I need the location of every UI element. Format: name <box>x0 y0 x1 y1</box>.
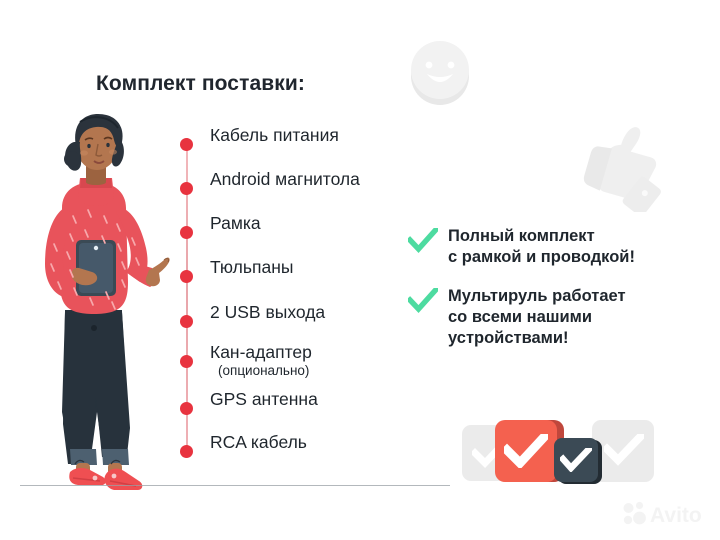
list-item-label: RCA кабель <box>210 432 307 453</box>
feature-highlights: Полный комплект с рамкой и проводкой! Му… <box>408 226 708 363</box>
bullet-dot-icon <box>180 182 193 195</box>
list-item-label: Кан-адаптер <box>210 342 312 363</box>
page-title: Комплект поставки: <box>96 72 305 96</box>
feature-line: Полный комплект <box>448 226 708 247</box>
bullet-dot-icon <box>180 138 193 151</box>
avito-wordmark: Avito <box>650 504 702 527</box>
bullet-dot-icon <box>180 402 193 415</box>
green-check-icon <box>408 228 438 254</box>
feature-line: устройствами! <box>448 328 708 349</box>
avito-dots-logo <box>624 502 646 525</box>
package-contents-list: Кабель питания Android магнитола Рамка Т… <box>180 130 430 460</box>
feature-line: Мультируль работает <box>448 286 708 307</box>
check-mark-icon <box>504 434 548 468</box>
bullet-dot-icon <box>180 226 193 239</box>
list-item-label: Кабель питания <box>210 125 339 146</box>
list-item-label: 2 USB выхода <box>210 302 325 323</box>
smiley-face-icon <box>404 36 476 108</box>
bullet-dot-icon <box>180 270 193 283</box>
avito-watermark: Avito <box>622 500 714 528</box>
list-item-sublabel: (опционально) <box>218 363 309 378</box>
feature-item: Мультируль работает со всеми нашими устр… <box>408 286 708 349</box>
feature-line: со всеми нашими <box>448 307 708 328</box>
checkbox-cluster <box>462 412 652 487</box>
feature-line: с рамкой и проводкой! <box>448 247 708 268</box>
check-mark-icon <box>604 434 644 466</box>
green-check-icon <box>408 288 438 314</box>
bullet-dot-icon <box>180 445 193 458</box>
feature-text: Полный комплект с рамкой и проводкой! <box>448 226 708 268</box>
feature-text: Мультируль работает со всеми нашими устр… <box>448 286 708 349</box>
check-mark-icon <box>560 448 592 472</box>
thumbs-up-icon <box>580 116 666 212</box>
woman-with-tablet-pointing-illustration <box>18 112 178 490</box>
ground-line <box>20 485 450 486</box>
list-item-label: GPS антенна <box>210 389 318 410</box>
poster-canvas: Комплект поставки: Кабель питания Androi… <box>0 0 720 540</box>
bullet-dot-icon <box>180 355 193 368</box>
list-item-label: Рамка <box>210 213 261 234</box>
list-item-label: Android магнитола <box>210 169 360 190</box>
bullet-dot-icon <box>180 315 193 328</box>
feature-item: Полный комплект с рамкой и проводкой! <box>408 226 708 268</box>
list-item-label: Тюльпаны <box>210 257 293 278</box>
